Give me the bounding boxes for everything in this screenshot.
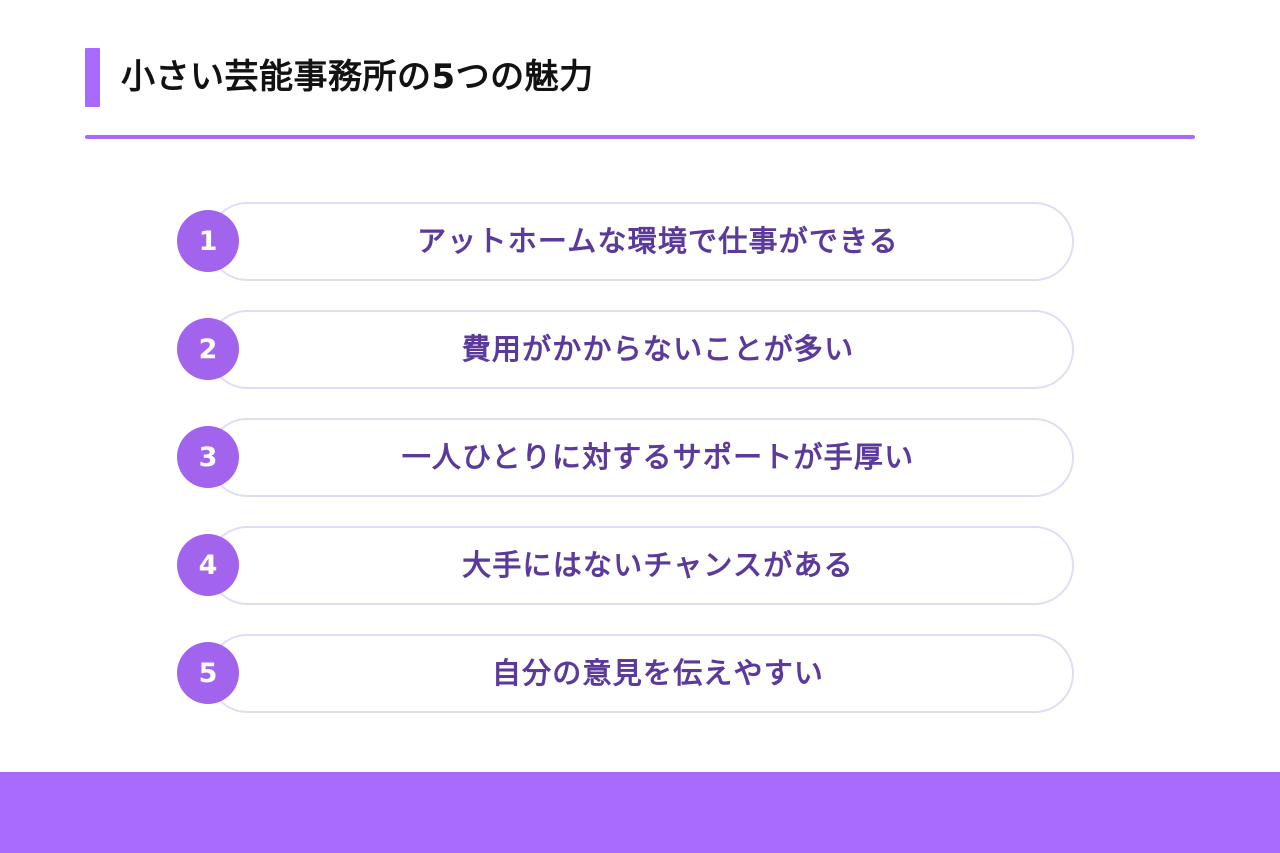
list-item-pill-2[interactable]: 費用がかからないことが多い xyxy=(208,310,1074,389)
list-item: 自分の意見を伝えやすい 5 xyxy=(208,634,1074,713)
title-row: 小さい芸能事務所の5つの魅力 xyxy=(85,44,1195,110)
list-item: 大手にはないチャンスがある 4 xyxy=(208,526,1074,605)
list-item-label: 大手にはないチャンスがある xyxy=(428,551,854,580)
list-item-pill-5[interactable]: 自分の意見を伝えやすい xyxy=(208,634,1074,713)
footer-accent-bar xyxy=(0,772,1280,853)
list-item-pill-4[interactable]: 大手にはないチャンスがある xyxy=(208,526,1074,605)
list-item-number-badge-5: 5 xyxy=(177,642,239,704)
list-item-number-badge-2: 2 xyxy=(177,318,239,380)
list-item-pill-3[interactable]: 一人ひとりに対するサポートが手厚い xyxy=(208,418,1074,497)
page-title: 小さい芸能事務所の5つの魅力 xyxy=(121,60,594,94)
slide-header: 小さい芸能事務所の5つの魅力 xyxy=(85,44,1195,140)
list-item-label: 一人ひとりに対するサポートが手厚い xyxy=(368,443,915,472)
list-item-label: 自分の意見を伝えやすい xyxy=(458,659,824,688)
header-divider xyxy=(85,135,1195,139)
list-item-number-badge-4: 4 xyxy=(177,534,239,596)
list-item-pill-1[interactable]: アットホームな環境で仕事ができる xyxy=(208,202,1074,281)
accent-bar-icon xyxy=(85,48,100,107)
list-item: 費用がかからないことが多い 2 xyxy=(208,310,1074,389)
slide-canvas: 小さい芸能事務所の5つの魅力 アットホームな環境で仕事ができる 1 費用がかから… xyxy=(0,0,1280,853)
list-item-label: アットホームな環境で仕事ができる xyxy=(383,227,899,256)
list-item-number-badge-1: 1 xyxy=(177,210,239,272)
list-item-number-badge-3: 3 xyxy=(177,426,239,488)
list-item: 一人ひとりに対するサポートが手厚い 3 xyxy=(208,418,1074,497)
list-item: アットホームな環境で仕事ができる 1 xyxy=(208,202,1074,281)
list-item-label: 費用がかからないことが多い xyxy=(428,335,855,364)
benefits-list: アットホームな環境で仕事ができる 1 費用がかからないことが多い 2 一人ひとり… xyxy=(208,202,1074,713)
